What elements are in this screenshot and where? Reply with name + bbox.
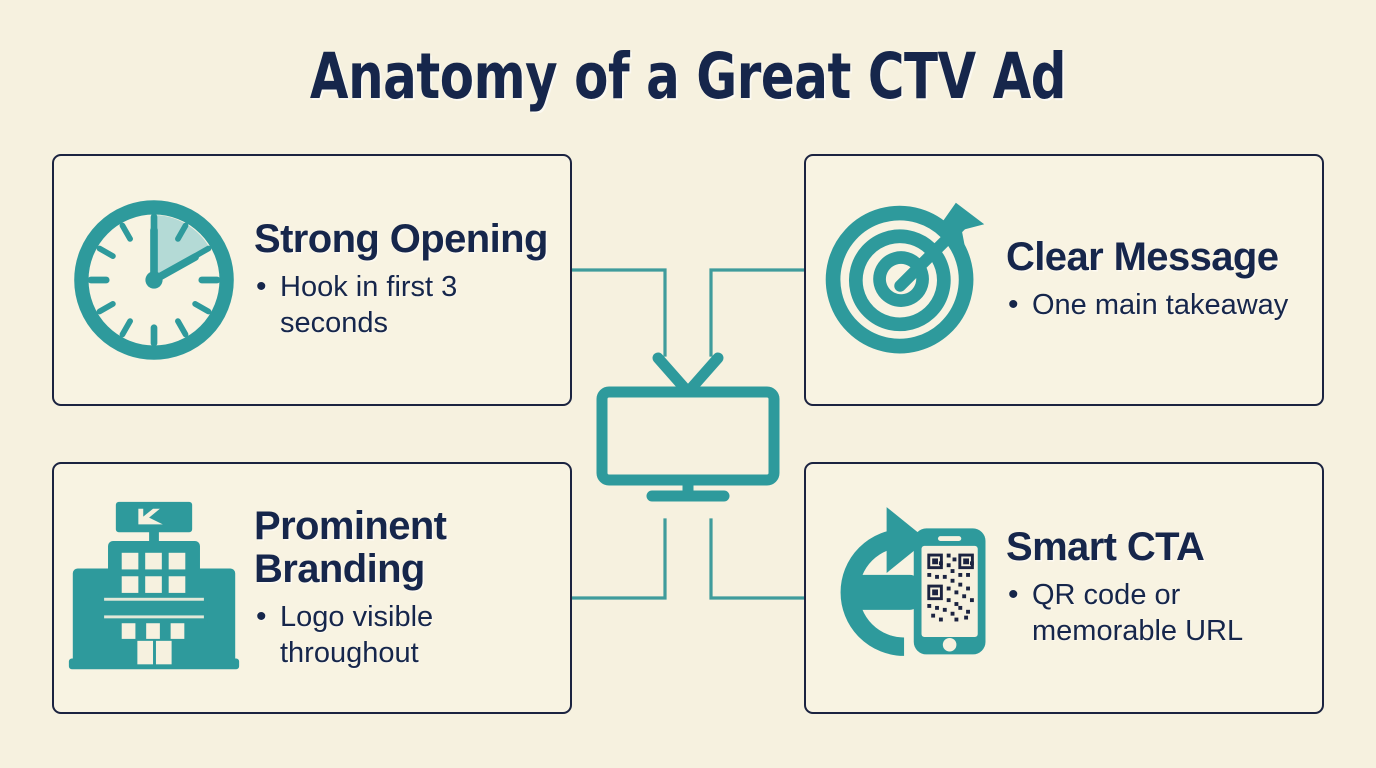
tv-icon xyxy=(588,330,788,510)
card-title: Clear Message xyxy=(1006,236,1308,279)
card-body: Prominent Branding Logo visible througho… xyxy=(254,505,570,671)
clock-icon xyxy=(54,180,254,380)
card-clear-message[interactable]: Clear Message One main takeaway xyxy=(804,154,1324,406)
card-smart-cta[interactable]: Smart CTA QR code or memorable URL xyxy=(804,462,1324,714)
card-bullet: QR code or memorable URL xyxy=(1006,577,1308,650)
connector-bottom-left xyxy=(572,520,665,598)
page-title: Anatomy of a Great CTV Ad xyxy=(83,40,1294,113)
card-body: Smart CTA QR code or memorable URL xyxy=(1006,526,1322,649)
infographic-canvas: Anatomy of a Great CTV Ad xyxy=(0,0,1376,768)
card-title: Prominent Branding xyxy=(254,505,556,591)
card-prominent-branding[interactable]: Prominent Branding Logo visible througho… xyxy=(52,462,572,714)
target-arrow-icon xyxy=(806,180,1006,380)
branded-building-icon xyxy=(54,488,254,688)
card-bullet: One main takeaway xyxy=(1006,287,1308,323)
qr-phone-arrow-icon xyxy=(806,488,1006,688)
tv-hub xyxy=(588,330,788,510)
card-strong-opening[interactable]: Strong Opening Hook in first 3 seconds xyxy=(52,154,572,406)
connector-bottom-right xyxy=(711,520,804,598)
card-title: Smart CTA xyxy=(1006,526,1308,569)
card-body: Clear Message One main takeaway xyxy=(1006,236,1322,323)
card-title: Strong Opening xyxy=(254,218,556,261)
card-body: Strong Opening Hook in first 3 seconds xyxy=(254,218,570,341)
card-bullet: Logo visible throughout xyxy=(254,599,556,672)
card-bullet: Hook in first 3 seconds xyxy=(254,269,556,342)
